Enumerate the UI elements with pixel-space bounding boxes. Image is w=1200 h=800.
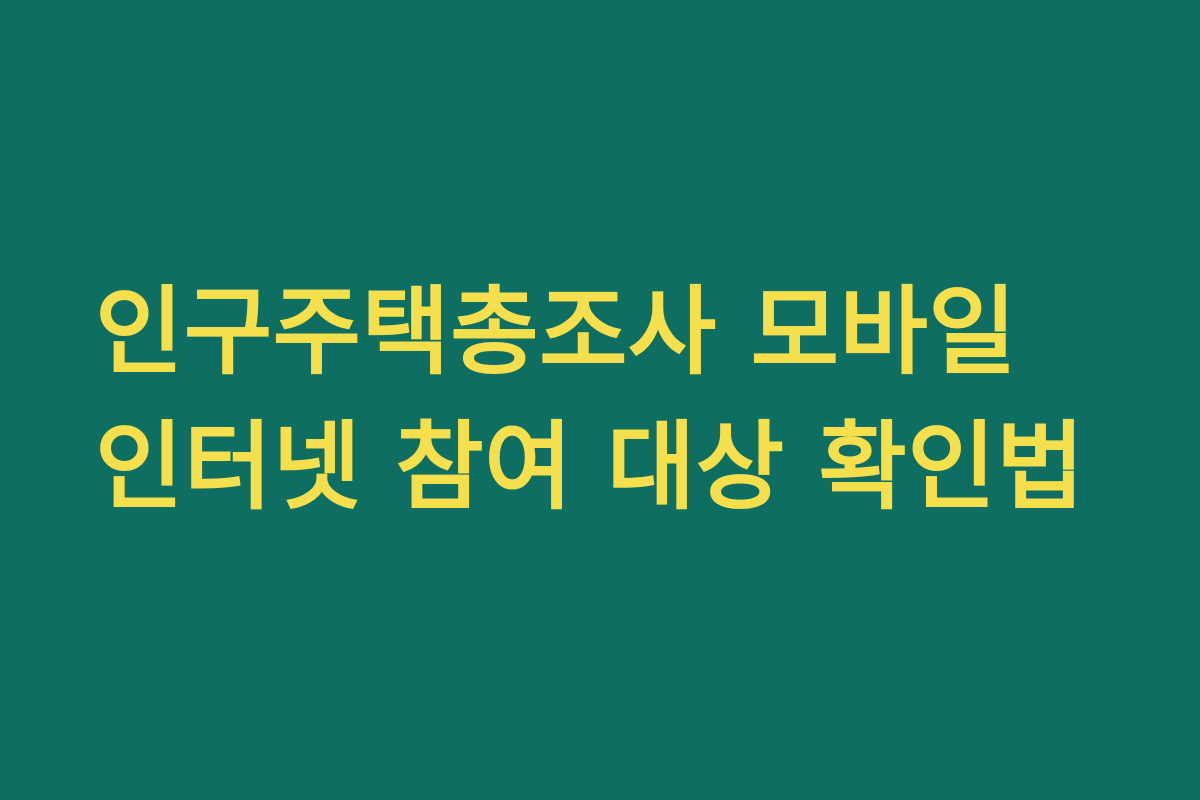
page-title: 인구주택총조사 모바일 인터넷 참여 대상 확인법 bbox=[95, 265, 1085, 535]
page-title-line-2: 인터넷 참여 대상 확인법 bbox=[95, 400, 1085, 535]
title-card: 인구주택총조사 모바일 인터넷 참여 대상 확인법 bbox=[0, 0, 1200, 800]
page-title-line-1: 인구주택총조사 모바일 bbox=[95, 265, 1085, 400]
